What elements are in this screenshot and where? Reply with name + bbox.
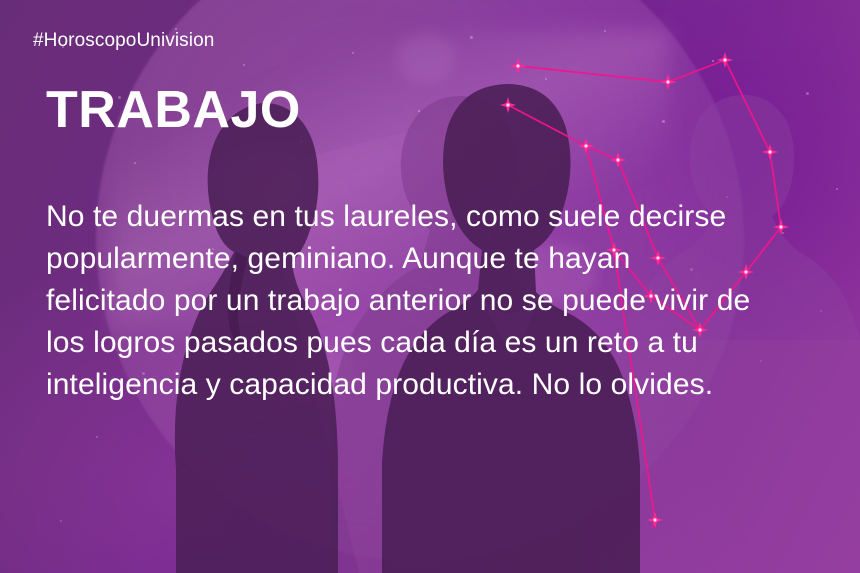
star-shoulder (610, 152, 626, 168)
body-line: los logros pasados pues cada día es un r… (46, 322, 836, 364)
star-pollux (500, 97, 516, 113)
body-line: inteligencia y capacidad productiva. No … (46, 364, 836, 406)
page-title: TRABAJO (46, 84, 301, 136)
star-castor (510, 58, 526, 74)
star-right-arm (762, 144, 778, 160)
star-upper-mid (660, 74, 676, 90)
body-line: No te duermas en tus laureles, como suel… (46, 196, 836, 238)
body-line: felicitado por un trabajo anterior no se… (46, 280, 836, 322)
star-foot (647, 512, 663, 528)
star-upper-right (717, 52, 733, 68)
horoscope-card: #HoroscopoUnivision TRABAJO No te duerma… (0, 0, 860, 573)
hashtag-label: #HoroscopoUnivision (33, 30, 214, 52)
horoscope-body: No te duermas en tus laureles, como suel… (46, 196, 836, 406)
body-line: popularmente, geminiano. Aunque te hayan (46, 238, 836, 280)
star-mid-body (578, 138, 594, 154)
